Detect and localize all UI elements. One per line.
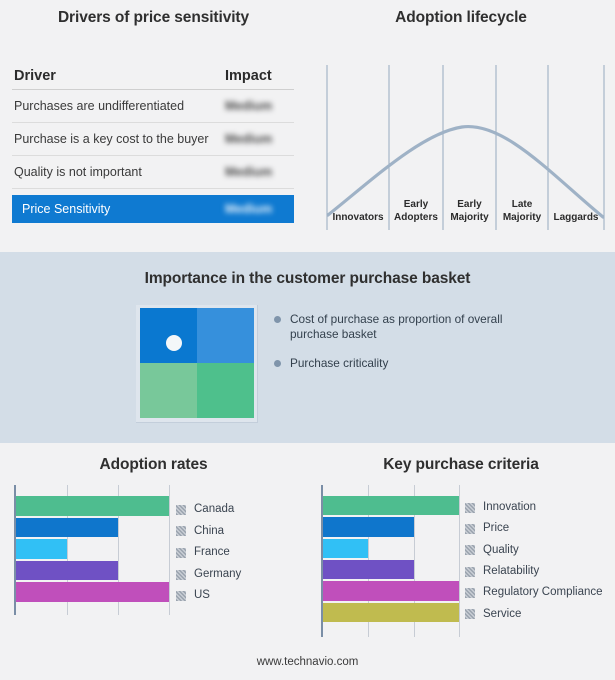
legend-item[interactable]: Service xyxy=(465,604,603,625)
legend-swatch-icon xyxy=(465,609,475,619)
legend-swatch-icon xyxy=(176,526,186,536)
column-header-impact: Impact xyxy=(225,68,272,84)
drivers-title: Drivers of price sensitivity xyxy=(0,9,307,27)
gridline xyxy=(459,485,460,637)
stage-label-laggards: Laggards xyxy=(548,212,604,223)
gridline xyxy=(169,485,170,615)
legend-item-label: China xyxy=(194,525,224,537)
table-row[interactable]: Quality is not important Medium xyxy=(12,156,294,189)
matrix-frame xyxy=(136,305,258,423)
legend-swatch-icon xyxy=(465,567,475,577)
legend-swatch-icon xyxy=(176,591,186,601)
table-header-row: Driver Impact xyxy=(12,63,294,90)
bar[interactable] xyxy=(323,581,459,600)
cell-driver: Price Sensitivity xyxy=(22,202,110,216)
position-marker-dot xyxy=(166,335,182,351)
bar[interactable] xyxy=(323,517,414,536)
footer-url: www.technavio.com xyxy=(0,656,615,668)
cell-impact: Medium xyxy=(225,165,272,179)
legend-item-label: Service xyxy=(483,608,521,620)
table-row[interactable]: Purchases are undifferentiated Medium xyxy=(12,90,294,123)
cell-driver: Purchases are undifferentiated xyxy=(14,99,184,113)
bullet-icon xyxy=(274,360,281,367)
adoption-rates-title: Adoption rates xyxy=(0,456,307,474)
bar[interactable] xyxy=(16,496,169,516)
legend-swatch-icon xyxy=(465,545,475,555)
drivers-table: Driver Impact Purchases are undifferenti… xyxy=(12,63,294,223)
plot-area xyxy=(14,485,169,615)
bar[interactable] xyxy=(323,560,414,579)
bar[interactable] xyxy=(323,603,459,622)
legend-item[interactable]: Price xyxy=(465,518,603,539)
adoption-rates-legend: CanadaChinaFranceGermanyUS xyxy=(176,499,241,607)
legend-item-label: Canada xyxy=(194,503,234,515)
legend-swatch-icon xyxy=(176,570,186,580)
legend-item-label: Relatability xyxy=(483,565,539,577)
quadrant-top-right[interactable] xyxy=(197,308,254,363)
stage-label-early-adopters-line2: Adopters xyxy=(389,212,443,223)
legend-item-label: Purchase criticality xyxy=(290,356,388,370)
legend-item-label: France xyxy=(194,546,230,558)
quadrant-matrix xyxy=(140,308,254,418)
adoption-rates-panel: Adoption rates CanadaChinaFranceGermanyU… xyxy=(0,443,307,643)
legend-item: Cost of purchase as proportion of overal… xyxy=(274,312,554,342)
legend-swatch-icon xyxy=(465,524,475,534)
legend-swatch-icon xyxy=(465,588,475,598)
bar[interactable] xyxy=(16,539,67,559)
criteria-chart xyxy=(321,485,459,637)
legend-item-label: Regulatory Compliance xyxy=(483,586,603,598)
legend-swatch-icon xyxy=(176,505,186,515)
bar[interactable] xyxy=(16,582,169,602)
stage-label-early-majority-line2: Majority xyxy=(443,212,496,223)
plot-area xyxy=(321,485,459,637)
criteria-title: Key purchase criteria xyxy=(307,456,615,474)
cell-driver: Purchase is a key cost to the buyer xyxy=(14,132,209,146)
legend-item: Purchase criticality xyxy=(274,356,554,371)
stage-label-late-majority-line2: Majority xyxy=(496,212,548,223)
legend-item[interactable]: US xyxy=(176,585,241,607)
legend-item[interactable]: Germany xyxy=(176,564,241,586)
table-row[interactable]: Purchase is a key cost to the buyer Medi… xyxy=(12,123,294,156)
cell-impact: Medium xyxy=(225,99,272,113)
adoption-rates-chart xyxy=(14,485,169,615)
legend-item[interactable]: China xyxy=(176,521,241,543)
cell-impact: Medium xyxy=(225,202,272,216)
criteria-panel: Key purchase criteria InnovationPriceQua… xyxy=(307,443,615,643)
bar[interactable] xyxy=(323,496,459,515)
bullet-icon xyxy=(274,316,281,323)
legend-item[interactable]: France xyxy=(176,542,241,564)
legend-swatch-icon xyxy=(465,503,475,513)
legend-item-label: US xyxy=(194,589,210,601)
stage-label-innovators: Innovators xyxy=(327,212,389,223)
lifecycle-panel: Adoption lifecycle Innovators Early Adop… xyxy=(307,0,615,252)
basket-legend: Cost of purchase as proportion of overal… xyxy=(274,312,554,385)
column-header-driver: Driver xyxy=(14,68,56,84)
criteria-legend: InnovationPriceQualityRelatabilityRegula… xyxy=(465,497,603,625)
cell-driver: Quality is not important xyxy=(14,165,142,179)
bar[interactable] xyxy=(16,561,118,581)
basket-title: Importance in the customer purchase bask… xyxy=(0,270,615,288)
lifecycle-title: Adoption lifecycle xyxy=(307,9,615,27)
bar[interactable] xyxy=(16,518,118,538)
legend-item-label: Price xyxy=(483,522,509,534)
legend-item-label: Quality xyxy=(483,544,519,556)
table-row-highlighted[interactable]: Price Sensitivity Medium xyxy=(12,195,294,223)
stage-label-late-majority-line1: Late xyxy=(496,199,548,210)
bar[interactable] xyxy=(323,539,368,558)
legend-item[interactable]: Innovation xyxy=(465,497,603,518)
cell-impact: Medium xyxy=(225,132,272,146)
legend-item-label: Cost of purchase as proportion of overal… xyxy=(290,312,502,341)
legend-item-label: Germany xyxy=(194,568,241,580)
stage-label-early-majority-line1: Early xyxy=(443,199,496,210)
legend-item[interactable]: Canada xyxy=(176,499,241,521)
legend-item[interactable]: Regulatory Compliance xyxy=(465,582,603,603)
stage-label-early-adopters-line1: Early xyxy=(389,199,443,210)
legend-swatch-icon xyxy=(176,548,186,558)
quadrant-bottom-right[interactable] xyxy=(197,363,254,418)
legend-item[interactable]: Relatability xyxy=(465,561,603,582)
legend-item[interactable]: Quality xyxy=(465,540,603,561)
quadrant-bottom-left[interactable] xyxy=(140,363,197,418)
legend-item-label: Innovation xyxy=(483,501,536,513)
drivers-panel: Drivers of price sensitivity Driver Impa… xyxy=(0,0,307,252)
